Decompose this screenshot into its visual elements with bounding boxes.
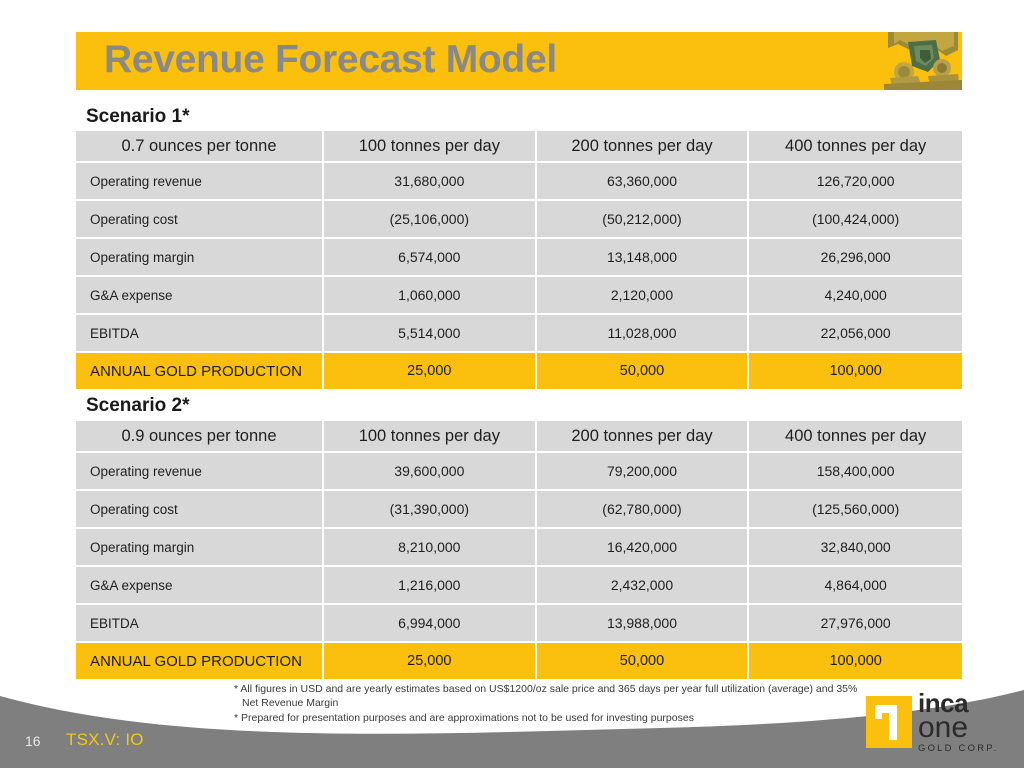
table-row: G&A expense 1,216,000 2,432,000 4,864,00… [76,567,962,605]
cell-value: 22,056,000 [749,315,962,353]
footnote-1: * All figures in USD and are yearly esti… [234,683,874,711]
column-header-metric: 0.9 ounces per tonne [76,421,324,453]
cell-value: 50,000 [537,353,750,389]
row-label: G&A expense [76,567,324,605]
cell-value: 158,400,000 [749,453,962,491]
column-header-200tpd: 200 tonnes per day [537,421,750,453]
table-row: Operating margin 8,210,000 16,420,000 32… [76,529,962,567]
column-header-metric: 0.7 ounces per tonne [76,131,324,163]
column-header-400tpd: 400 tonnes per day [749,131,962,163]
row-label: EBITDA [76,605,324,643]
table-row: EBITDA 6,994,000 13,988,000 27,976,000 [76,605,962,643]
table-row: Operating cost (31,390,000) (62,780,000)… [76,491,962,529]
cell-value: 4,240,000 [749,277,962,315]
cell-value: (31,390,000) [324,491,537,529]
inca-one-logomark-icon [866,696,912,748]
row-label: Operating cost [76,491,324,529]
column-header-100tpd: 100 tonnes per day [324,131,537,163]
cell-value: 6,994,000 [324,605,537,643]
footnotes-block: * All figures in USD and are yearly esti… [234,683,874,727]
row-label: ANNUAL GOLD PRODUCTION [76,353,324,389]
cell-value: 32,840,000 [749,529,962,567]
row-label: Operating margin [76,529,324,567]
cell-value: 50,000 [537,643,750,679]
cell-value: 2,120,000 [537,277,750,315]
cell-value: (50,212,000) [537,201,750,239]
row-label: EBITDA [76,315,324,353]
cell-value: (125,560,000) [749,491,962,529]
table-header-row: 0.7 ounces per tonne 100 tonnes per day … [76,131,962,163]
logo-line-one: one [918,714,1018,741]
cell-value: 11,028,000 [537,315,750,353]
table-row: Operating margin 6,574,000 13,148,000 26… [76,239,962,277]
cell-value: 25,000 [324,353,537,389]
page-title: Revenue Forecast Model [104,38,557,82]
cell-value: 2,432,000 [537,567,750,605]
slide-number: 16 [25,733,41,749]
table-row: EBITDA 5,514,000 11,028,000 22,056,000 [76,315,962,353]
column-header-100tpd: 100 tonnes per day [324,421,537,453]
row-label: Operating revenue [76,163,324,201]
cell-value: 79,200,000 [537,453,750,491]
cell-value: 4,864,000 [749,567,962,605]
scenario-1-table: 0.7 ounces per tonne 100 tonnes per day … [76,131,962,389]
cell-value: (62,780,000) [537,491,750,529]
cell-value: 63,360,000 [537,163,750,201]
cell-value: 6,574,000 [324,239,537,277]
logo-line-gold-corp: GOLD CORP. [918,743,1018,754]
cell-value: (100,424,000) [749,201,962,239]
row-label: G&A expense [76,277,324,315]
row-label: Operating revenue [76,453,324,491]
column-header-400tpd: 400 tonnes per day [749,421,962,453]
cell-value: (25,106,000) [324,201,537,239]
cell-value: 100,000 [749,643,962,679]
cell-value: 26,296,000 [749,239,962,277]
company-logo: inca one GOLD CORP. [866,694,1016,760]
table-row: G&A expense 1,060,000 2,120,000 4,240,00… [76,277,962,315]
cell-value: 27,976,000 [749,605,962,643]
annual-gold-production-row: ANNUAL GOLD PRODUCTION 25,000 50,000 100… [76,643,962,679]
annual-gold-production-row: ANNUAL GOLD PRODUCTION 25,000 50,000 100… [76,353,962,389]
cell-value: 1,060,000 [324,277,537,315]
table-row: Operating cost (25,106,000) (50,212,000)… [76,201,962,239]
cell-value: 1,216,000 [324,567,537,605]
cell-value: 100,000 [749,353,962,389]
cell-value: 13,148,000 [537,239,750,277]
stock-ticker: TSX.V: IO [66,730,144,750]
table-header-row: 0.9 ounces per tonne 100 tonnes per day … [76,421,962,453]
cell-value: 13,988,000 [537,605,750,643]
cell-value: 8,210,000 [324,529,537,567]
cell-value: 31,680,000 [324,163,537,201]
slide-title-bar: Revenue Forecast Model [76,32,962,90]
column-header-200tpd: 200 tonnes per day [537,131,750,163]
footnote-2: * Prepared for presentation purposes and… [234,712,874,726]
row-label: Operating margin [76,239,324,277]
table-row: Operating revenue 39,600,000 79,200,000 … [76,453,962,491]
logo-wordmark: inca one GOLD CORP. [918,692,1018,754]
row-label: Operating cost [76,201,324,239]
scenario-1-heading: Scenario 1* [86,106,190,128]
scenario-2-table: 0.9 ounces per tonne 100 tonnes per day … [76,421,962,679]
table-row: Operating revenue 31,680,000 63,360,000 … [76,163,962,201]
inca-artifact-decoration-icon [884,32,962,90]
cell-value: 126,720,000 [749,163,962,201]
cell-value: 25,000 [324,643,537,679]
cell-value: 5,514,000 [324,315,537,353]
row-label: ANNUAL GOLD PRODUCTION [76,643,324,679]
scenario-2-heading: Scenario 2* [86,395,190,417]
cell-value: 16,420,000 [537,529,750,567]
presentation-slide: Revenue Forecast Model [0,0,1024,768]
cell-value: 39,600,000 [324,453,537,491]
